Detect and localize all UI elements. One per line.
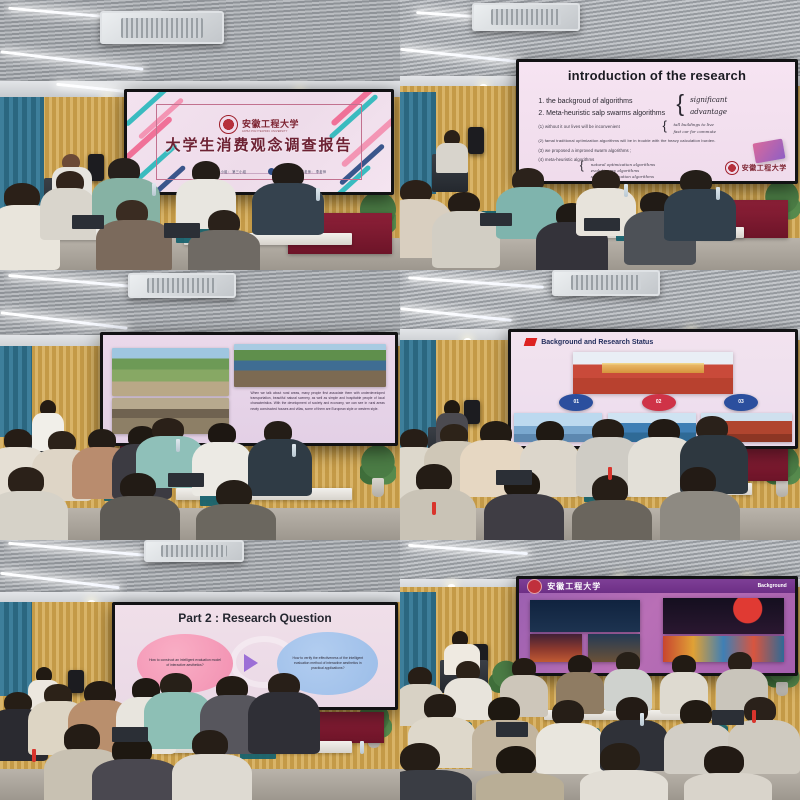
thumbnail-city [608, 413, 696, 442]
book-icon [752, 139, 785, 164]
panel-top-right: introduction of the research 1. the back… [400, 0, 800, 270]
sub-brace-1: tall buildings to live [674, 122, 714, 127]
photo-collage: 安徽工程大学 ANHUI POLYTECHNIC UNIVERSITY 大学生消… [0, 0, 800, 800]
university-logo: 安徽工程大学 [725, 161, 787, 175]
photo-river [234, 344, 386, 387]
head-table [708, 448, 788, 480]
meta-left: 小组： 第三小组 [221, 169, 247, 174]
presenter-body [32, 413, 64, 451]
slide-title-deck: 安徽工程大学 ANHUI POLYTECHNIC UNIVERSITY 大学生消… [127, 92, 391, 192]
ac-vent-icon [144, 540, 244, 562]
led-screen: Background and Research Status 01 02 03 [508, 329, 798, 448]
slide-background-status: Background and Research Status 01 02 03 [511, 332, 795, 445]
panel-bottom-left: Part 2 : Research Question How to constr… [0, 540, 400, 800]
question-bubble-left: How to construct an intelligent evaluati… [137, 634, 232, 693]
slide-paragraph: When we talk about rural areas, many peo… [250, 391, 384, 411]
bullet-dot-icon [192, 168, 199, 175]
slide-background-dark: 安徽工程大学 Background [519, 579, 795, 673]
panel-top-left: 安徽工程大学 ANHUI POLYTECHNIC UNIVERSITY 大学生消… [0, 0, 400, 270]
window-curtain [0, 602, 32, 696]
led-screen: Part 2 : Research Question How to constr… [112, 602, 398, 709]
slide-heading: Part 2 : Research Question [115, 611, 395, 625]
university-seal-icon [219, 115, 238, 134]
head-table [700, 200, 788, 238]
brace-item-1: significant [690, 96, 727, 104]
led-screen: 安徽工程大学 ANHUI POLYTECHNIC UNIVERSITY 大学生消… [124, 89, 394, 195]
potted-plant [360, 443, 396, 497]
university-name-zh: 安徽工程大学 [742, 163, 787, 173]
university-name-zh: 安徽工程大学 [242, 117, 299, 130]
nested-1: natural optimization algorithms [591, 162, 655, 167]
slide-research-question: Part 2 : Research Question How to constr… [115, 605, 395, 706]
slide-introduction: introduction of the research 1. the back… [519, 62, 795, 181]
panel-middle-left: When we talk about rural areas, many peo… [0, 270, 400, 540]
step-number-03: 03 [724, 394, 758, 411]
ac-vent-icon [128, 273, 236, 299]
led-screen: 安徽工程大学 Background [516, 576, 798, 676]
floor [400, 508, 800, 540]
university-seal-icon [527, 579, 542, 594]
presenter-body [444, 644, 480, 675]
slide-heading: introduction of the research [519, 68, 795, 83]
arrow-icon [244, 654, 258, 672]
thumbnail-roofs [701, 413, 792, 442]
presenter-body [436, 413, 468, 448]
nested-2: evolutionary algorithms [591, 168, 639, 173]
led-screen: introduction of the research 1. the back… [516, 59, 798, 184]
photo-dam [112, 398, 229, 435]
section-label: Background [758, 583, 787, 589]
university-name-en: ANHUI POLYTECHNIC UNIVERSITY [242, 130, 299, 133]
image-railyard [588, 634, 640, 662]
slide-rural-photos: When we talk about rural areas, many peo… [103, 335, 395, 443]
head-table [312, 712, 384, 743]
sub-point-3: (3) we proposed a improved swarm algorit… [538, 148, 631, 153]
led-screen: When we talk about rural areas, many peo… [100, 332, 398, 446]
floor [0, 508, 400, 540]
question-bubble-right: How to verify the effectiveness of the i… [277, 632, 378, 695]
brace-icon: { [663, 121, 667, 131]
image-lantern [663, 598, 784, 634]
presenter-body [52, 167, 92, 205]
image-tools [663, 636, 784, 661]
slide-meta: 小组： 第三小组 指导老师： 李老师 [127, 168, 391, 175]
ac-vent-icon [100, 11, 224, 45]
sub-point-2: (2) famal traditional optimization algor… [538, 138, 715, 143]
slide-title: 大学生消费观念调查报告 [127, 134, 391, 155]
brace-icon: { [676, 94, 684, 112]
window-curtain [400, 592, 436, 706]
photo-village [112, 348, 229, 396]
university-seal-icon [725, 161, 739, 175]
bullet-dot-icon [268, 168, 275, 175]
presenter-body [28, 680, 60, 714]
floor [0, 769, 400, 800]
image-highway [530, 600, 640, 632]
brace-icon: { [580, 161, 584, 171]
brace-item-2: advantage [690, 108, 727, 116]
floor [400, 238, 800, 270]
ac-vent-icon [552, 270, 660, 296]
university-logo: 安徽工程大学 ANHUI POLYTECHNIC UNIVERSITY [219, 115, 299, 134]
nested-3: swarm optimization algorithms [591, 174, 654, 179]
head-table [288, 213, 392, 254]
accent-bar-icon [524, 338, 538, 346]
ac-vent-icon [472, 3, 580, 31]
wall-speaker [68, 670, 84, 693]
step-number-01: 01 [559, 394, 593, 411]
sub-brace-2: fast car for commute [674, 129, 716, 134]
window-curtain [400, 92, 436, 195]
thumbnail-stadium [514, 413, 602, 442]
slide-heading-row: Background and Research Status [525, 338, 653, 346]
slide-header-bar: 安徽工程大学 Background [519, 579, 795, 593]
floor [400, 769, 800, 800]
window-curtain [0, 346, 32, 438]
university-name-zh: 安徽工程大学 [547, 581, 601, 592]
hero-image [573, 352, 732, 394]
window-curtain [0, 97, 44, 216]
panel-middle-right: Background and Research Status 01 02 03 [400, 270, 800, 540]
bullet-1: 1. the backgroud of algorithms [538, 98, 632, 105]
panel-bottom-right: 安徽工程大学 Background [400, 540, 800, 800]
university-logo: 安徽工程大学 [527, 579, 601, 594]
wall-speaker [468, 127, 484, 154]
image-port [530, 634, 582, 662]
sub-point-1: (1) without it our lives will be inconve… [538, 124, 620, 129]
bullet-2: 2. Meta-heuristic salp swarms algorithms [538, 110, 665, 117]
presenter-body [436, 143, 468, 173]
meta-right: 指导老师： 李老师 [297, 169, 326, 174]
step-number-02: 02 [642, 394, 676, 411]
sub-point-4: (4) meta-heuristic algorithms [538, 157, 594, 162]
slide-heading: Background and Research Status [541, 339, 653, 346]
